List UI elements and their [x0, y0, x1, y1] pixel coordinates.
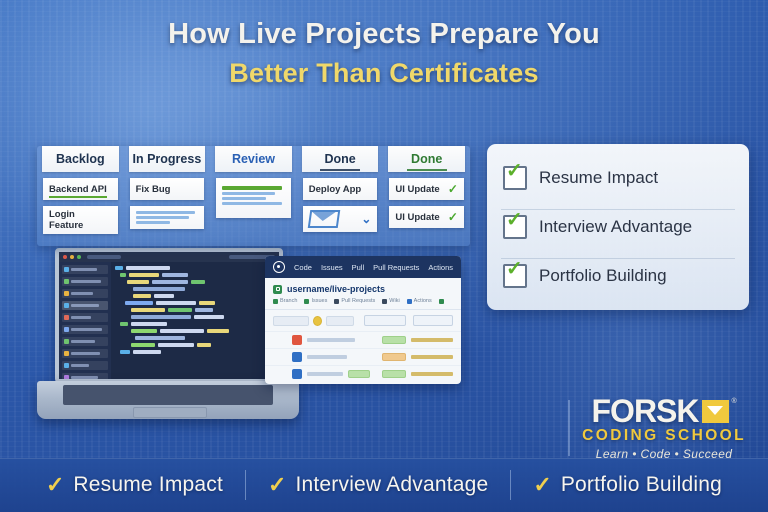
code-line	[115, 280, 275, 284]
footer-bar: ✓ Resume Impact ✓ Interview Advantage ✓ …	[0, 458, 768, 512]
benefit-label: Portfolio Building	[539, 266, 667, 286]
github-nav-item-pull-requests[interactable]: Pull Requests	[373, 263, 419, 272]
logo-wordmark: FORSK	[592, 396, 699, 426]
check-icon: ✓	[533, 474, 551, 496]
kanban-card[interactable]: UI Update ✓	[389, 206, 464, 228]
check-icon: ✓	[268, 474, 286, 496]
placeholder-lines	[222, 184, 285, 207]
file-tree-item[interactable]	[62, 265, 108, 274]
github-tab-branch[interactable]: Branch	[273, 298, 297, 304]
code-line	[115, 315, 275, 319]
file-name	[307, 372, 343, 376]
brand-logo: FORSK ® CODING SCHOOL Learn • Code • Suc…	[582, 396, 746, 461]
checkbox-checked-icon[interactable]	[503, 166, 527, 190]
code-line	[115, 329, 275, 333]
slide-canvas: How Live Projects Prepare You Better Tha…	[0, 0, 768, 512]
code-line	[115, 287, 275, 291]
kanban-card[interactable]: Fix Bug	[130, 178, 205, 200]
file-row[interactable]	[265, 348, 461, 365]
ide-screen	[55, 248, 283, 383]
chevron-down-icon: ⌄	[361, 212, 371, 226]
add-file-button[interactable]	[413, 315, 453, 326]
checkbox-checked-icon[interactable]	[503, 215, 527, 239]
benefit-label: Resume Impact	[539, 168, 658, 188]
ide-titlebar	[59, 252, 279, 262]
kanban-card[interactable]: Deploy App	[303, 178, 378, 200]
title-block: How Live Projects Prepare You Better Tha…	[0, 18, 768, 89]
github-nav: Code Issues Pull Pull Requests Actions	[265, 256, 461, 278]
github-nav-item-code[interactable]: Code	[294, 263, 312, 272]
file-tree-item-selected[interactable]	[62, 301, 108, 310]
github-branch-bar	[265, 310, 461, 331]
github-nav-item-pull[interactable]: Pull	[352, 263, 365, 272]
kanban-column-header[interactable]: Done	[302, 146, 379, 172]
github-tabs: Branch Issues Pull Requests Wiki Actions	[265, 298, 461, 310]
logo-mark-icon	[702, 400, 729, 423]
benefit-row[interactable]: Interview Advantage	[501, 209, 735, 244]
file-icon	[292, 369, 302, 379]
repository-icon	[273, 285, 282, 294]
file-tree-item[interactable]	[62, 277, 108, 286]
window-close-icon[interactable]	[63, 255, 67, 259]
kanban-column-header[interactable]: In Progress	[129, 146, 206, 172]
file-tree-item[interactable]	[62, 325, 108, 334]
window-maximize-icon[interactable]	[77, 255, 81, 259]
kanban-card-label: UI Update	[395, 184, 439, 195]
github-tab-label: Branch	[280, 298, 297, 304]
commit-label	[326, 316, 354, 326]
commit-status	[382, 336, 406, 344]
file-tree-item[interactable]	[62, 349, 108, 358]
footer-item-portfolio-building[interactable]: ✓ Portfolio Building	[511, 473, 744, 497]
kanban-column-header[interactable]: Done	[388, 146, 465, 172]
github-tab-actions[interactable]: Actions	[407, 298, 432, 304]
file-row[interactable]	[265, 331, 461, 348]
file-badge	[348, 370, 370, 378]
placeholder-lines	[136, 209, 199, 226]
commit-message	[411, 355, 453, 359]
ide-title-placeholder	[87, 255, 121, 259]
github-logo-icon	[273, 261, 285, 273]
branch-selector[interactable]	[273, 316, 309, 326]
placeholder-line	[222, 197, 266, 200]
github-tab-wiki[interactable]: Wiki	[382, 298, 399, 304]
file-icon	[292, 352, 302, 362]
code-line	[115, 294, 275, 298]
kanban-card-list: Deploy App ⌄	[301, 172, 380, 232]
commit-status	[382, 370, 406, 378]
code-download-button[interactable]	[364, 315, 406, 326]
footer-item-label: Portfolio Building	[561, 473, 722, 497]
benefits-panel: Resume Impact Interview Advantage Portfo…	[487, 144, 749, 310]
window-minimize-icon[interactable]	[70, 255, 74, 259]
file-name	[307, 355, 347, 359]
check-icon: ✓	[46, 474, 64, 496]
kanban-card[interactable]: Backend API	[43, 178, 118, 200]
placeholder-line	[136, 216, 189, 219]
footer-item-interview-advantage[interactable]: ✓ Interview Advantage	[246, 473, 510, 497]
placeholder-line-accent	[222, 186, 281, 190]
kanban-card-list	[214, 172, 293, 218]
kanban-column-header[interactable]: Review	[215, 146, 292, 172]
benefit-row[interactable]: Portfolio Building	[501, 258, 735, 293]
github-nav-item-issues[interactable]: Issues	[321, 263, 343, 272]
placeholder-line	[136, 221, 170, 224]
footer-item-label: Interview Advantage	[295, 473, 488, 497]
logo-wordmark-row: FORSK ®	[582, 396, 746, 426]
code-line	[115, 336, 275, 340]
footer-item-label: Resume Impact	[73, 473, 223, 497]
mail-icon	[308, 210, 341, 228]
status-dot	[313, 316, 322, 326]
github-tab-label: Issues	[311, 298, 327, 304]
check-icon: ✓	[448, 182, 458, 196]
title-line-2: Better Than Certificates	[0, 58, 768, 89]
file-icon	[292, 335, 302, 345]
kanban-card[interactable]: UI Update ✓	[389, 178, 464, 200]
file-tree-item[interactable]	[62, 361, 108, 370]
github-tab-label: Wiki	[389, 298, 399, 304]
ide-code-editor[interactable]	[111, 262, 279, 379]
code-line	[115, 308, 275, 312]
kanban-column-done-blue: Done Deploy App ⌄	[297, 146, 384, 246]
benefit-row[interactable]: Resume Impact	[501, 161, 735, 195]
kanban-card-list: Fix Bug	[128, 172, 207, 229]
commit-message	[411, 372, 453, 376]
kanban-card-label: UI Update	[395, 212, 439, 223]
github-repo-panel: Code Issues Pull Pull Requests Actions u…	[265, 256, 461, 384]
commit-status	[382, 353, 406, 361]
kanban-column-header[interactable]: Backlog	[42, 146, 119, 172]
github-tab-pull-requests[interactable]: Pull Requests	[334, 298, 375, 304]
kanban-column-review: Review	[210, 146, 297, 246]
file-row[interactable]	[265, 365, 461, 382]
code-line	[115, 350, 275, 354]
kanban-card-label: Login Feature	[49, 209, 112, 231]
kanban-card-list: UI Update ✓ UI Update ✓	[387, 172, 466, 228]
trademark-symbol: ®	[732, 398, 737, 405]
kanban-column-done-green: Done UI Update ✓ UI Update ✓	[383, 146, 470, 246]
repository-name[interactable]: username/live-projects	[287, 284, 385, 294]
benefit-label: Interview Advantage	[539, 217, 692, 237]
laptop-base	[37, 381, 299, 419]
code-line	[115, 301, 275, 305]
placeholder-line	[136, 211, 195, 214]
github-tab-label: Actions	[414, 298, 432, 304]
commit-message	[411, 338, 453, 342]
code-line	[115, 322, 275, 326]
check-icon: ✓	[448, 210, 458, 224]
ide-body	[59, 262, 279, 379]
kanban-card-label: Deploy App	[309, 184, 361, 195]
logo-subtitle: CODING SCHOOL	[582, 427, 746, 445]
github-tab-label: Pull Requests	[341, 298, 375, 304]
footer-item-resume-impact[interactable]: ✓ Resume Impact	[24, 473, 245, 497]
kanban-board: Backlog Backend API Login Feature In Pro…	[37, 146, 470, 246]
placeholder-line	[222, 192, 275, 195]
github-repo-header: username/live-projects	[265, 278, 461, 298]
checkbox-checked-icon[interactable]	[503, 264, 527, 288]
file-tree-item[interactable]	[62, 337, 108, 346]
github-tab-insights[interactable]	[439, 298, 444, 304]
ide-file-explorer[interactable]	[59, 262, 111, 379]
kanban-card-mail[interactable]: ⌄	[303, 206, 378, 232]
kanban-card-label: Backend API	[49, 184, 107, 195]
kanban-card-list: Backend API Login Feature	[41, 172, 120, 234]
code-line	[115, 273, 275, 277]
laptop-keyboard	[63, 385, 273, 405]
placeholder-line	[222, 202, 281, 205]
file-name	[307, 338, 355, 342]
file-tree-item[interactable]	[62, 289, 108, 298]
code-line	[115, 266, 275, 270]
laptop-trackpad	[133, 407, 207, 418]
github-tab-issues[interactable]: Issues	[304, 298, 327, 304]
kanban-card[interactable]: Login Feature	[43, 206, 118, 234]
title-line-1: How Live Projects Prepare You	[0, 18, 768, 51]
kanban-card-placeholder[interactable]	[130, 206, 205, 229]
kanban-column-backlog: Backlog Backend API Login Feature	[37, 146, 124, 246]
laptop-illustration	[37, 248, 299, 418]
logo-divider	[568, 400, 570, 456]
kanban-column-in-progress: In Progress Fix Bug	[124, 146, 211, 246]
github-nav-item-actions[interactable]: Actions	[428, 263, 453, 272]
code-line	[115, 343, 275, 347]
kanban-card-label: Fix Bug	[136, 184, 171, 195]
kanban-card-placeholder[interactable]	[216, 178, 291, 218]
file-tree-item[interactable]	[62, 313, 108, 322]
